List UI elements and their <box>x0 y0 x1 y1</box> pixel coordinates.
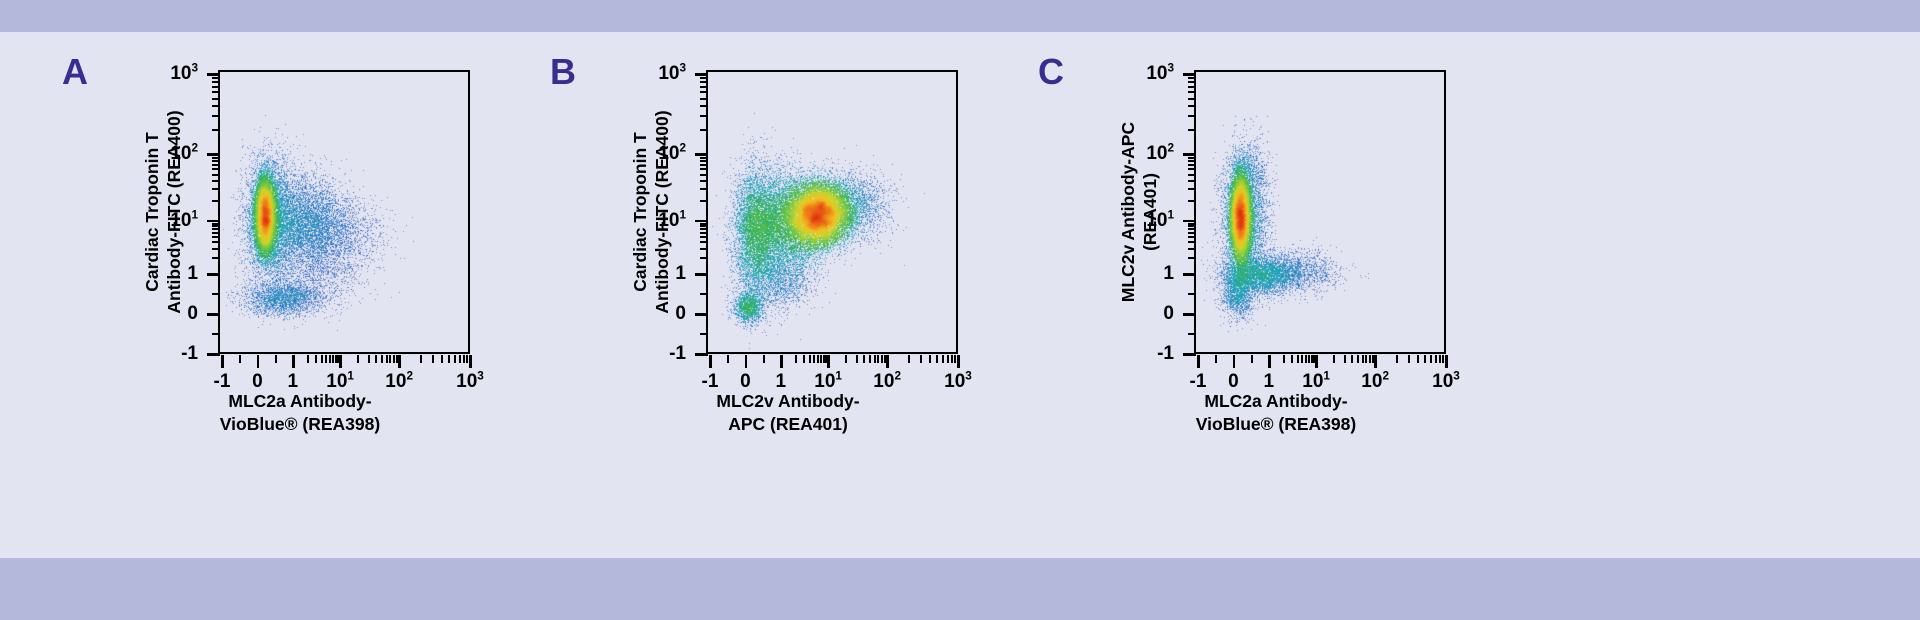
panel-a-x-tick-minor <box>432 355 434 363</box>
panel-a-x-tick-major <box>398 355 401 368</box>
panel-b-x-tick-minor <box>874 355 876 363</box>
bottom-band <box>0 558 1920 620</box>
panel-a-x-tick-minor <box>275 355 277 363</box>
panel-c-y-tick-minor <box>1188 81 1196 83</box>
panel-b-y-tick-minor <box>700 188 708 190</box>
panel-c-x-tick-minor <box>1424 355 1426 363</box>
panel-c-y-tick-minor <box>1188 333 1196 335</box>
panel-a-y-tick-minor <box>212 248 220 250</box>
panel-c-x-tick-major <box>1374 355 1377 368</box>
panel-c-x-tick-minor <box>1357 355 1359 363</box>
panel-b-y-tick-label: 101 <box>658 211 686 230</box>
panel-b-y-tick-major <box>695 73 708 76</box>
panel-a-y-tick-major <box>207 313 220 316</box>
panel-c-x-axis-title-line1: MLC2a Antibody- <box>1096 390 1456 413</box>
panel-c-x-tick-minor <box>1435 355 1437 363</box>
panel-b-x-tick-minor <box>942 355 944 363</box>
panel-c-x-tick-minor <box>1369 355 1371 363</box>
panel-a-y-tick-label: 0 <box>187 304 198 323</box>
panel-c-y-tick-label: 101 <box>1146 211 1174 230</box>
panel-b-y-tick-minor <box>700 180 708 182</box>
panel-a-y-tick-major <box>207 353 220 356</box>
panel-a-y-tick-minor <box>212 91 220 93</box>
panel-a-y-tick-minor <box>212 81 220 83</box>
panel-b-y-tick-label: 103 <box>658 64 686 83</box>
panel-b-x-tick-minor <box>727 355 729 363</box>
panel-a-x-tick-major <box>292 355 295 368</box>
panel-c-x-tick-major <box>1268 355 1271 368</box>
panel-b-x-tick-minor <box>863 355 865 363</box>
panel-b-x-tick-label: 103 <box>928 372 988 391</box>
panel-c-y-tick-minor <box>1188 257 1196 259</box>
panel-c-y-tick-minor <box>1188 98 1196 100</box>
panel-b-y-tick-minor <box>700 157 708 159</box>
panel-c-y-tick-label: 102 <box>1146 144 1174 163</box>
panel-b-x-tick-minor <box>936 355 938 363</box>
panel-c-x-axis-title-line2: VioBlue® (REA398) <box>1096 413 1456 436</box>
panel-c-plot-box: -101101102103-101101102103 <box>1194 70 1446 354</box>
panel-b-x-tick-major <box>780 355 783 368</box>
panel-c-y-tick-minor <box>1188 164 1196 166</box>
panel-b-x-tick-major <box>886 355 889 368</box>
panel-c-y-tick-major <box>1183 153 1196 156</box>
panel-b-y-tick-minor <box>700 129 708 131</box>
panel-b-y-tick-minor <box>700 174 708 176</box>
panel-b-y-tick-minor <box>700 105 708 107</box>
panel-a-x-tick-minor <box>463 355 465 363</box>
panel-b-y-tick-minor <box>700 228 708 230</box>
panel-a-x-tick-major <box>469 355 472 368</box>
panel-b-y-tick-major <box>695 313 708 316</box>
panel-a-x-tick-minor <box>329 355 331 363</box>
panel-a-x-tick-minor <box>307 355 309 363</box>
panel-b-y-tick-minor <box>700 223 708 225</box>
panel-b-y-tick-minor <box>700 160 708 162</box>
panel-c-letter: C <box>1038 54 1064 90</box>
panel-a-x-tick-minor <box>375 355 377 363</box>
panel-a-x-tick-minor <box>368 355 370 363</box>
panel-c-x-tick-major <box>1315 355 1318 368</box>
panel-b-y-tick-minor <box>700 115 708 117</box>
panel-b-scatter-canvas <box>708 72 956 352</box>
panel-c-x-tick-minor <box>1396 355 1398 363</box>
panel-a-y-tick-label: 102 <box>170 144 198 163</box>
panel-a-x-tick-minor <box>420 355 422 363</box>
panel-a-y-tick-minor <box>212 200 220 202</box>
panel-c-y-tick-major <box>1183 273 1196 276</box>
panel-b-x-tick-minor <box>947 355 949 363</box>
panel-b-x-axis-title: MLC2v Antibody- APC (REA401) <box>608 390 968 436</box>
panel-c-x-tick-minor <box>1283 355 1285 363</box>
panel-b-y-tick-label: 1 <box>675 264 686 283</box>
panel-a-y-tick-minor <box>212 225 220 227</box>
panel-b-y-tick-minor <box>700 241 708 243</box>
panel-c-x-tick-label: 103 <box>1416 372 1476 391</box>
panel-a-y-tick-label: 1 <box>187 264 198 283</box>
panel-a-y-tick-minor <box>212 236 220 238</box>
panel-a-y-tick-minor <box>212 257 220 259</box>
panel-c-y-tick-label: 1 <box>1163 264 1174 283</box>
panel-c-x-tick-minor <box>1251 355 1253 363</box>
panel-b-x-tick-minor <box>869 355 871 363</box>
panel-c-y-tick-minor <box>1188 157 1196 159</box>
panel-b-y-tick-minor <box>700 232 708 234</box>
panel-c-x-tick-minor <box>1291 355 1293 363</box>
panel-b-x-tick-minor <box>920 355 922 363</box>
panel-b-x-tick-label: 101 <box>798 372 858 391</box>
panel-a-x-tick-minor <box>393 355 395 363</box>
panel-b-x-axis-title-line1: MLC2v Antibody- <box>608 390 968 413</box>
panel-a-x-tick-label: 101 <box>310 372 370 391</box>
panel-c-y-tick-minor <box>1188 225 1196 227</box>
panel-a-y-axis-title-line1: Cardiac Troponin T <box>142 132 164 291</box>
panel-a-y-tick-minor <box>212 232 220 234</box>
panel-a-y-tick-minor <box>212 333 220 335</box>
panel-c-x-tick-minor <box>1344 355 1346 363</box>
panel-a-y-tick-minor <box>212 86 220 88</box>
panel-b-x-tick-minor <box>795 355 797 363</box>
panel-c-x-tick-minor <box>1351 355 1353 363</box>
panel-c-y-tick-minor <box>1188 188 1196 190</box>
panel-b-x-tick-major <box>827 355 830 368</box>
panel-a-x-tick-minor <box>389 355 391 363</box>
panel-b-x-tick-minor <box>877 355 879 363</box>
panel-c-x-tick-minor <box>1365 355 1367 363</box>
panel-b-x-tick-minor <box>908 355 910 363</box>
panel-a-y-tick-major <box>207 73 220 76</box>
panel-c-y-tick-major <box>1183 353 1196 356</box>
panel-b-x-tick-minor <box>929 355 931 363</box>
panel-c-x-tick-minor <box>1372 355 1374 363</box>
panel-a-y-tick-minor <box>212 188 220 190</box>
panel-c-x-tick-minor <box>1362 355 1364 363</box>
panel-c-y-tick-minor <box>1188 115 1196 117</box>
panel-c-x-tick-minor <box>1333 355 1335 363</box>
panel-c-y-tick-minor <box>1188 91 1196 93</box>
panel-c-y-tick-minor <box>1188 174 1196 176</box>
panel-a-y-tick-minor <box>212 129 220 131</box>
panel-b-x-tick-minor <box>954 355 956 363</box>
panel-c-y-tick-label: -1 <box>1157 344 1174 363</box>
panel-b-y-tick-major <box>695 353 708 356</box>
panel-b-y-tick-minor <box>700 91 708 93</box>
panel-c-y-tick-minor <box>1188 228 1196 230</box>
panel-a-x-axis-title-line1: MLC2a Antibody- <box>120 390 480 413</box>
panel-a-scatter-canvas <box>220 72 468 352</box>
panel-a-plot-box: -101101102103-101101102103 <box>218 70 470 354</box>
panel-b-x-tick-minor <box>820 355 822 363</box>
panel-c-y-tick-label: 0 <box>1163 304 1174 323</box>
panel-a-y-tick-minor <box>212 115 220 117</box>
panel-a-y-tick-label: -1 <box>181 344 198 363</box>
panel-b-x-tick-minor <box>825 355 827 363</box>
panel-a-x-tick-minor <box>396 355 398 363</box>
panel-b-y-tick-major <box>695 273 708 276</box>
panel-c-y-tick-minor <box>1188 86 1196 88</box>
panel-b-x-tick-minor <box>813 355 815 363</box>
panel-b-x-tick-major <box>957 355 960 368</box>
panel-a-y-tick-minor <box>212 223 220 225</box>
panel-b-x-tick-minor <box>803 355 805 363</box>
panel-a-letter: A <box>62 54 88 90</box>
panel-c-x-tick-minor <box>1297 355 1299 363</box>
panel-b-y-tick-major <box>695 153 708 156</box>
panel-b-y-tick-minor <box>700 77 708 79</box>
panel-a-x-tick-minor <box>239 355 241 363</box>
panel-c-y-tick-minor <box>1188 248 1196 250</box>
panel-a-x-axis-title: MLC2a Antibody- VioBlue® (REA398) <box>120 390 480 436</box>
panel-c-y-tick-minor <box>1188 232 1196 234</box>
panel-c-x-tick-major <box>1445 355 1448 368</box>
panel-a-y-tick-minor <box>212 293 220 295</box>
panel-c-y-tick-minor <box>1188 160 1196 162</box>
panel-c-x-tick-minor <box>1301 355 1303 363</box>
panel-a-x-tick-minor <box>459 355 461 363</box>
panel-a-x-tick-minor <box>337 355 339 363</box>
panel-c-scatter-canvas <box>1196 72 1444 352</box>
panel-a-y-tick-major <box>207 273 220 276</box>
panel-a-y-tick-minor <box>212 164 220 166</box>
panel-c-y-tick-minor <box>1188 168 1196 170</box>
panel-a-x-axis-title-line2: VioBlue® (REA398) <box>120 413 480 436</box>
panel-b-x-tick-label: 102 <box>857 372 917 391</box>
panel-a-y-tick-minor <box>212 157 220 159</box>
panel-a-x-tick-minor <box>325 355 327 363</box>
panel-c-x-tick-minor <box>1215 355 1217 363</box>
panel-c-y-tick-major <box>1183 73 1196 76</box>
panel-b-plot-box: -101101102103-101101102103 <box>706 70 958 354</box>
panel-a-y-tick-label: 103 <box>170 64 198 83</box>
panel-a-y-tick-minor <box>212 228 220 230</box>
panel-b-x-tick-minor <box>763 355 765 363</box>
panel-c-x-tick-minor <box>1417 355 1419 363</box>
panel-b-y-tick-minor <box>700 236 708 238</box>
panel-a-x-tick-minor <box>441 355 443 363</box>
panel-c-y-tick-minor <box>1188 105 1196 107</box>
panel-a-x-tick-minor <box>357 355 359 363</box>
panel-a-y-tick-minor <box>212 180 220 182</box>
panel-b: B Cardiac Troponin T Antibody-FITC (REA4… <box>498 32 998 558</box>
panel-b-x-tick-minor <box>951 355 953 363</box>
panel-c-x-tick-minor <box>1313 355 1315 363</box>
panel-a-x-tick-minor <box>332 355 334 363</box>
panel-c-y-tick-label: 103 <box>1146 64 1174 83</box>
panel-c-y-tick-minor <box>1188 180 1196 182</box>
panel-a-x-tick-major <box>221 355 224 368</box>
panel-c-x-tick-minor <box>1308 355 1310 363</box>
panel-a-y-tick-minor <box>212 160 220 162</box>
panel-c-y-tick-major <box>1183 313 1196 316</box>
panel-b-x-tick-minor <box>881 355 883 363</box>
panel-a-x-tick-label: 102 <box>369 372 429 391</box>
panel-b-y-tick-minor <box>700 81 708 83</box>
panel-c-x-tick-minor <box>1442 355 1444 363</box>
panel-c-y-tick-minor <box>1188 129 1196 131</box>
panel-a-x-tick-minor <box>454 355 456 363</box>
panel-b-y-tick-minor <box>700 200 708 202</box>
panel-b-y-tick-minor <box>700 293 708 295</box>
panel-a-y-tick-minor <box>212 168 220 170</box>
panel-c-x-tick-major <box>1197 355 1200 368</box>
panel-c-y-tick-minor <box>1188 293 1196 295</box>
panel-c-x-tick-minor <box>1439 355 1441 363</box>
panel-a-y-tick-minor <box>212 105 220 107</box>
panel-c-x-tick-label: 102 <box>1345 372 1405 391</box>
panel-c-x-tick-minor <box>1305 355 1307 363</box>
panel-a-y-tick-minor <box>212 174 220 176</box>
panel-a-y-tick-label: 101 <box>170 211 198 230</box>
panel-c-x-tick-major <box>1233 355 1236 368</box>
panel-c-y-axis-title-line1: MLC2v Antibody-APC <box>1118 122 1140 302</box>
top-band <box>0 0 1920 32</box>
figure-root: A Cardiac Troponin T Antibody-FITC (REA4… <box>0 0 1920 620</box>
panel-b-x-tick-major <box>709 355 712 368</box>
panel-a: A Cardiac Troponin T Antibody-FITC (REA4… <box>10 32 510 558</box>
panel-c: C MLC2v Antibody-APC (REA401) -101101102… <box>986 32 1486 558</box>
panel-b-y-tick-minor <box>700 98 708 100</box>
panel-b-y-tick-minor <box>700 225 708 227</box>
panel-c-y-tick-minor <box>1188 236 1196 238</box>
panel-c-x-tick-minor <box>1430 355 1432 363</box>
panel-b-x-tick-minor <box>809 355 811 363</box>
panel-c-x-tick-label: 101 <box>1286 372 1346 391</box>
panel-c-y-tick-minor <box>1188 223 1196 225</box>
panel-b-y-tick-minor <box>700 248 708 250</box>
panel-a-x-tick-minor <box>386 355 388 363</box>
panel-b-y-tick-label: 0 <box>675 304 686 323</box>
panel-a-y-tick-minor <box>212 98 220 100</box>
panel-a-x-tick-minor <box>381 355 383 363</box>
panel-b-x-tick-minor <box>845 355 847 363</box>
panel-b-y-tick-minor <box>700 257 708 259</box>
panel-a-y-tick-major <box>207 153 220 156</box>
panel-c-x-tick-minor <box>1408 355 1410 363</box>
panel-b-x-axis-title-line2: APC (REA401) <box>608 413 968 436</box>
panel-c-y-tick-minor <box>1188 200 1196 202</box>
panel-b-y-tick-minor <box>700 86 708 88</box>
panel-b-x-tick-minor <box>856 355 858 363</box>
panel-a-y-tick-minor <box>212 241 220 243</box>
panel-b-x-tick-major <box>745 355 748 368</box>
panel-a-y-tick-minor <box>212 77 220 79</box>
panel-b-y-tick-minor <box>700 168 708 170</box>
panel-b-x-tick-minor <box>817 355 819 363</box>
panel-a-x-tick-major <box>257 355 260 368</box>
panel-a-x-tick-minor <box>466 355 468 363</box>
panel-b-y-tick-label: -1 <box>669 344 686 363</box>
panel-a-x-tick-minor <box>321 355 323 363</box>
panel-b-letter: B <box>550 54 576 90</box>
panel-a-x-tick-label: 103 <box>440 372 500 391</box>
panel-b-x-tick-minor <box>884 355 886 363</box>
panel-b-y-tick-label: 102 <box>658 144 686 163</box>
panel-b-y-tick-minor <box>700 164 708 166</box>
panel-a-x-tick-major <box>339 355 342 368</box>
panel-c-x-axis-title: MLC2a Antibody- VioBlue® (REA398) <box>1096 390 1456 436</box>
panel-b-y-axis-title-line1: Cardiac Troponin T <box>630 132 652 291</box>
panel-c-y-tick-minor <box>1188 241 1196 243</box>
panel-b-y-tick-minor <box>700 333 708 335</box>
panel-a-x-tick-minor <box>315 355 317 363</box>
panel-c-y-tick-minor <box>1188 77 1196 79</box>
panel-a-x-tick-minor <box>448 355 450 363</box>
